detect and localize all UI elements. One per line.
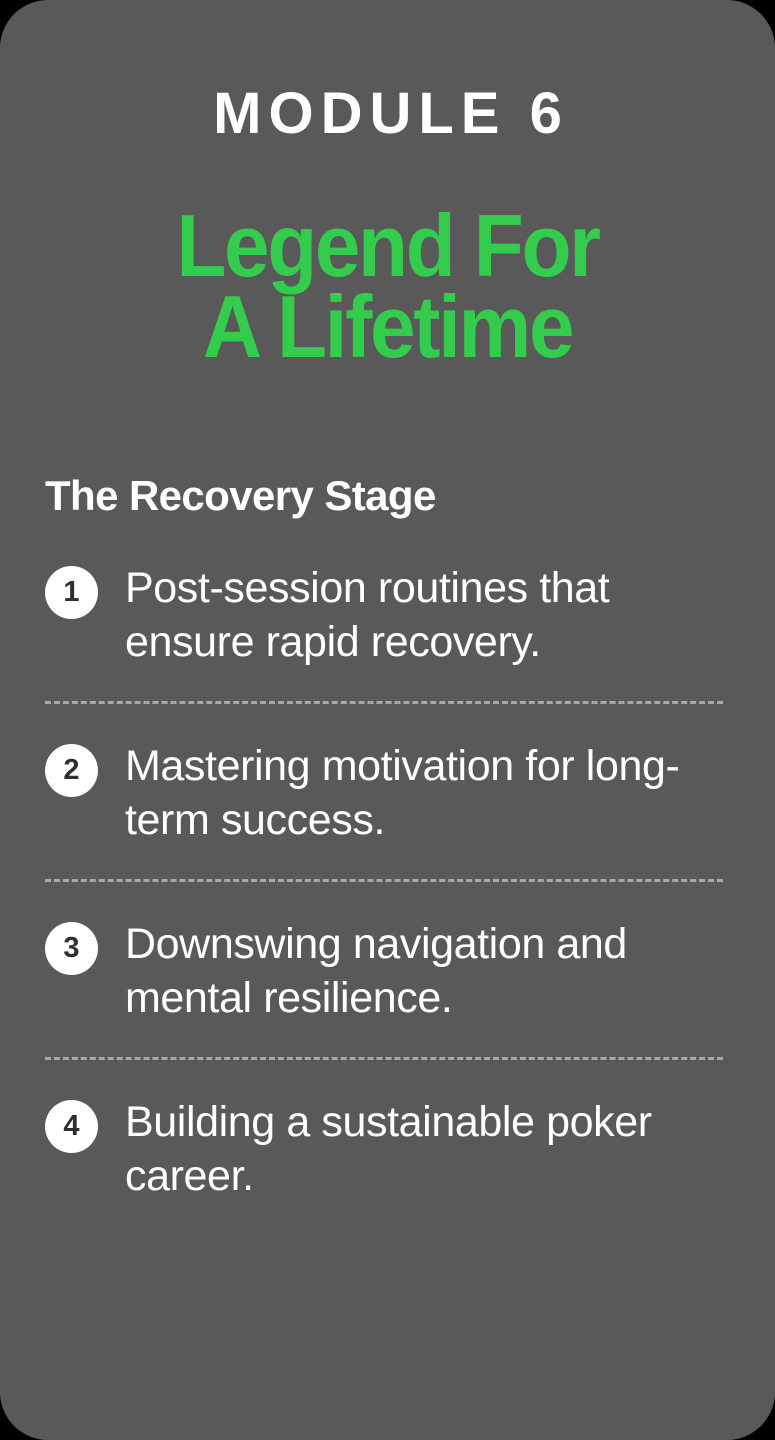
list-item-text: Building a sustainable poker career. [125, 1092, 725, 1203]
list-divider [45, 701, 723, 704]
list-item-number-badge: 4 [45, 1100, 98, 1153]
list-divider [45, 879, 723, 882]
module-card: MODULE 6 Legend For A Lifetime The Recov… [0, 0, 775, 1440]
list-item-text: Mastering motivation for long-term succe… [125, 736, 725, 847]
module-eyebrow-label: MODULE 6 [0, 78, 775, 150]
list-item-number-badge: 3 [45, 922, 98, 975]
page-title-line-1: Legend For [27, 206, 748, 287]
page-title: Legend For A Lifetime [27, 206, 748, 368]
list-item-number-badge: 1 [45, 566, 98, 619]
list-item: 1 Post-session routines that ensure rapi… [45, 558, 730, 669]
list-item-text: Post-session routines that ensure rapid … [125, 558, 725, 669]
list-item-number-badge: 2 [45, 744, 98, 797]
page-title-line-2: A Lifetime [27, 287, 748, 368]
list-divider [45, 1057, 723, 1060]
module-topic-list: 1 Post-session routines that ensure rapi… [45, 558, 730, 1203]
section-heading: The Recovery Stage [45, 470, 436, 522]
list-item-text: Downswing navigation and mental resilien… [125, 914, 725, 1025]
list-item: 2 Mastering motivation for long-term suc… [45, 736, 730, 847]
list-item: 3 Downswing navigation and mental resili… [45, 914, 730, 1025]
list-item: 4 Building a sustainable poker career. [45, 1092, 730, 1203]
